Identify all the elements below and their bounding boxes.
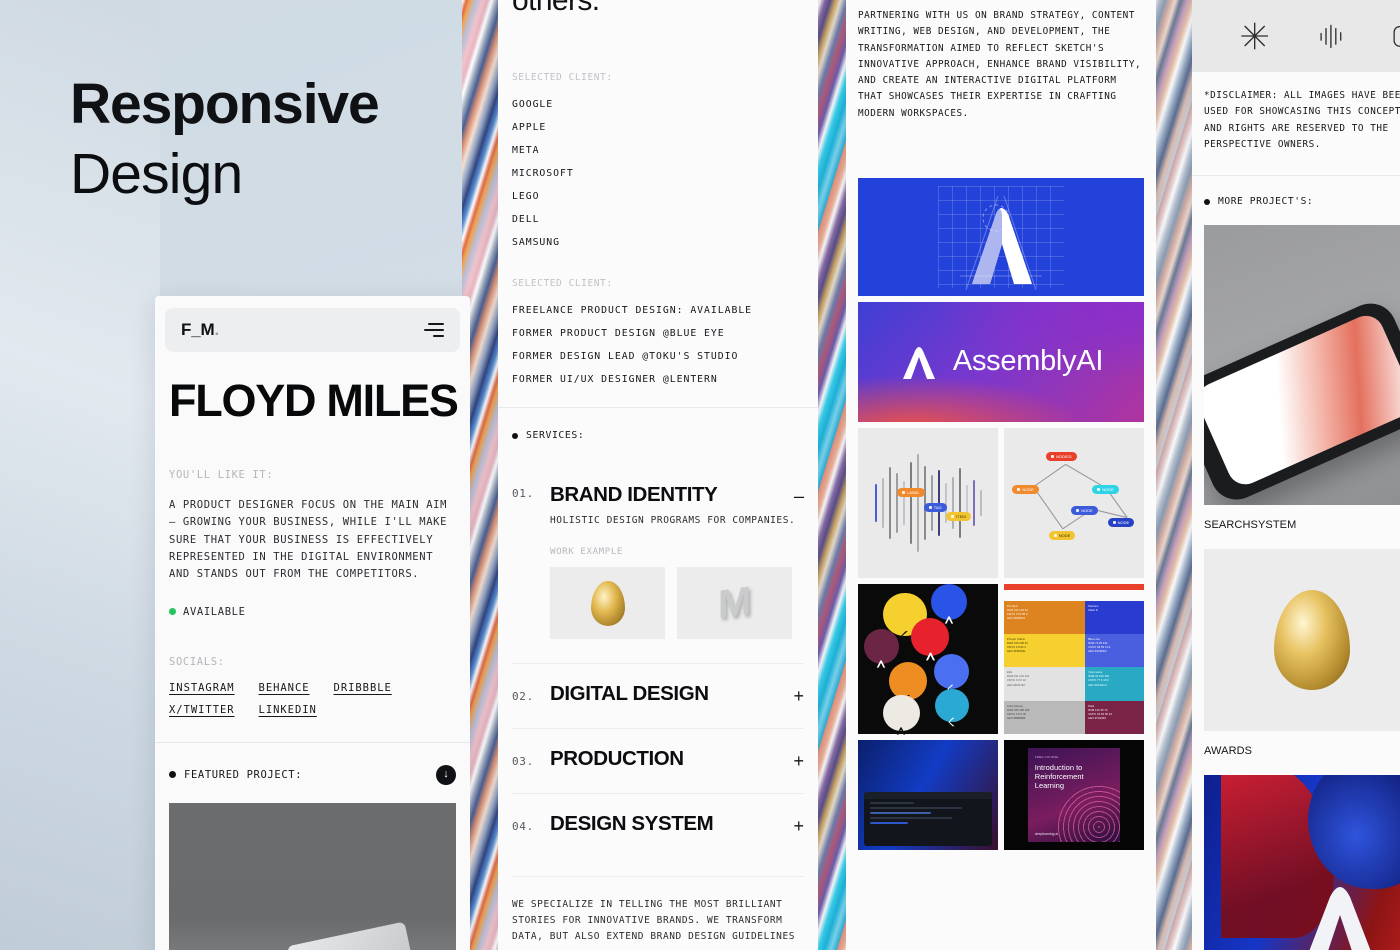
logo[interactable]: F_M. <box>181 320 219 340</box>
accordion-number: 02. <box>512 686 550 703</box>
project-thumbnail-awards[interactable] <box>1204 549 1400 731</box>
accordion-title: PRODUCTION <box>550 747 793 771</box>
accordion-title: DESIGN SYSTEM <box>550 812 793 836</box>
status-led-icon <box>169 608 176 615</box>
hero-line-2: Design <box>70 145 379 205</box>
project-thumbnail-searchsystem[interactable] <box>1204 225 1400 505</box>
golden-egg-icon <box>1274 590 1350 690</box>
collapse-icon[interactable]: – <box>794 483 804 505</box>
color-swatches-card[interactable]: Pro RedRGB 216 134 42CMYK 0 52 85 0HEX #… <box>1004 584 1144 734</box>
course-poster-card[interactable]: FREE COURSE Introduction to Reinforcemen… <box>1004 740 1144 850</box>
list-item: MICROSOFT <box>512 168 804 179</box>
accordion-number: 04. <box>512 816 550 833</box>
more-projects-header: MORE PROJECT'S: <box>1192 176 1400 207</box>
assembly-a-logo-icon <box>938 192 1064 292</box>
assembly-chevron-icon <box>1290 879 1400 950</box>
socials-list: INSTAGRAM BEHANCE DRIBBBLE X/TWITTER LIN… <box>169 682 456 716</box>
accordion-description: HOLISTIC DESIGN PROGRAMS FOR COMPANIES. <box>550 515 804 526</box>
waveform-tag: TAG <box>924 503 947 512</box>
project-caption: SEARCHSYSTEM <box>1204 519 1400 531</box>
disclaimer-text: *DISCLAIMER: ALL IMAGES HAVE BEEN USED F… <box>1192 72 1400 153</box>
capsule-circle-icon[interactable] <box>1391 19 1400 53</box>
icon-bar <box>1192 0 1400 72</box>
desktop-mockup-panel: PARTNERING WITH US ON BRAND STRATEGY, CO… <box>846 0 1156 950</box>
assembly-wordmark-card[interactable]: AssemblyAI <box>858 302 1144 422</box>
list-item: FORMER PRODUCT DESIGN @BLUE EYE <box>512 328 804 339</box>
clients-label: SELECTED CLIENT: <box>512 72 804 83</box>
bullet-icon <box>1204 199 1210 205</box>
availability-status: AVAILABLE <box>169 606 456 618</box>
poster-brand: deeplearning.ai <box>1035 832 1058 836</box>
list-item: LEGO <box>512 191 804 202</box>
bullet-icon <box>512 433 518 439</box>
social-link-instagram[interactable]: INSTAGRAM <box>169 682 235 694</box>
clients-list: GOOGLE APPLE META MICROSOFT LEGO DELL SA… <box>512 99 804 248</box>
expand-icon[interactable]: + <box>793 748 804 770</box>
graph-node: NODE <box>1071 506 1098 515</box>
concentric-rings-icon <box>1054 782 1120 842</box>
accordion-item-digital-design[interactable]: 02. DIGITAL DESIGN + <box>512 663 804 728</box>
more-projects-label: MORE PROJECT'S: <box>1218 196 1313 207</box>
expand-icon[interactable]: + <box>793 813 804 835</box>
accordion-title: BRAND IDENTITY <box>550 483 794 507</box>
accordion-item-design-system[interactable]: 04. DESIGN SYSTEM + <box>512 793 804 858</box>
services-label: SERVICES: <box>526 430 584 441</box>
work-example-gallery: M <box>550 567 804 639</box>
list-item: APPLE <box>512 122 804 133</box>
list-item: FREELANCE PRODUCT DESIGN: AVAILABLE <box>512 305 804 316</box>
social-link-linkedin[interactable]: LINKEDIN <box>259 704 317 716</box>
accordion-item-brand-identity[interactable]: 01. BRAND IDENTITY – HOLISTIC DESIGN PRO… <box>512 465 804 639</box>
experience-label: SELECTED CLIENT: <box>512 278 804 289</box>
portrait-code-card[interactable] <box>858 740 998 850</box>
accordion-number: 01. <box>512 483 550 500</box>
decorative-streak-right <box>1152 0 1196 950</box>
waveform-icon[interactable] <box>1317 21 1345 51</box>
tablet-mockup-panel: others. SELECTED CLIENT: GOOGLE APPLE ME… <box>498 0 818 950</box>
waveform-tag: ITEM <box>946 512 971 521</box>
graph-node: NODE <box>1092 485 1119 494</box>
socials-label: SOCIALS: <box>169 656 456 668</box>
services-header: SERVICES: <box>512 430 804 441</box>
case-study-paragraph: PARTNERING WITH US ON BRAND STRATEGY, CO… <box>846 0 1156 122</box>
node-graph-edges-icon <box>1004 428 1144 568</box>
intro-label: YOU'LL LIKE IT: <box>169 469 456 481</box>
featured-project-header: FEATURED PROJECT: ↓ <box>169 765 456 785</box>
list-item: DELL <box>512 214 804 225</box>
assembly-chevron-icon <box>899 343 939 381</box>
intro-body: A PRODUCT DESIGNER FOCUS ON THE MAIN AIM… <box>169 497 456 584</box>
graph-node: NODE01 <box>1046 452 1077 461</box>
logo-text: F_M <box>181 320 215 339</box>
accordion-title: DIGITAL DESIGN <box>550 682 793 706</box>
hero-title: Responsive Design <box>70 76 379 205</box>
brand-logo-construction-card[interactable] <box>858 178 1144 296</box>
list-item: META <box>512 145 804 156</box>
accordion-item-production[interactable]: 03. PRODUCTION + <box>512 728 804 793</box>
list-item: FORMER UI/UX DESIGNER @LENTERN <box>512 374 804 385</box>
waveform-tag: LABEL <box>897 488 924 497</box>
social-link-dribbble[interactable]: DRIBBBLE <box>334 682 392 694</box>
course-poster: FREE COURSE Introduction to Reinforcemen… <box>1028 748 1120 843</box>
experience-list: FREELANCE PRODUCT DESIGN: AVAILABLE FORM… <box>512 305 804 385</box>
tablet-footer-text: WE SPECIALIZE IN TELLING THE MOST BRILLI… <box>512 876 804 945</box>
hamburger-icon[interactable] <box>424 323 444 337</box>
waveform-card[interactable]: LABEL TAG ITEM <box>858 428 998 578</box>
logo-dot: . <box>215 320 220 339</box>
list-item: SAMSUNG <box>512 237 804 248</box>
assembly-wordmark-text: AssemblyAI <box>953 345 1103 378</box>
availability-label: AVAILABLE <box>183 606 246 618</box>
list-item: GOOGLE <box>512 99 804 110</box>
dark-projects-row: FREE COURSE Introduction to Reinforcemen… <box>858 740 1144 850</box>
brand-assets-row: Pro RedRGB 216 134 42CMYK 0 52 85 0HEX #… <box>858 584 1144 734</box>
featured-project-image[interactable] <box>169 803 456 950</box>
accordion-number: 03. <box>512 751 550 768</box>
social-link-twitter[interactable]: X/TWITTER <box>169 704 235 716</box>
mobile-mockup-panel: F_M. FLOYD MILES YOU'LL LIKE IT: A PRODU… <box>155 296 470 950</box>
hero-line-1: Responsive <box>70 76 379 133</box>
code-editor-window <box>864 792 992 846</box>
designer-name: FLOYD MILES <box>169 378 456 423</box>
graph-node: NODE <box>1108 518 1135 527</box>
project-caption: AWARDS <box>1204 745 1400 757</box>
mobile-topbar: F_M. <box>165 308 460 352</box>
divider <box>155 742 470 743</box>
logo-variants-card[interactable] <box>858 584 998 734</box>
golden-egg-icon <box>591 581 625 626</box>
graph-node: NODE <box>1049 531 1076 540</box>
graph-node: NODE <box>1012 485 1039 494</box>
asterisk-icon[interactable] <box>1238 18 1271 54</box>
featured-project-label: FEATURED PROJECT: <box>184 769 302 781</box>
work-example-label: WORK EXAMPLE <box>550 546 804 557</box>
social-link-behance[interactable]: BEHANCE <box>259 682 310 694</box>
list-item: FORMER DESIGN LEAD @TOKU'S STUDIO <box>512 351 804 362</box>
3d-letter-icon: M <box>718 578 751 628</box>
work-thumbnail-egg[interactable] <box>550 567 665 639</box>
bullet-icon <box>169 771 176 778</box>
poster-kicker: FREE COURSE <box>1035 755 1113 759</box>
projects-panel: *DISCLAIMER: ALL IMAGES HAVE BEEN USED F… <box>1192 0 1400 950</box>
project-thumbnail-portrait[interactable] <box>1204 775 1400 950</box>
expand-icon[interactable]: + <box>793 683 804 705</box>
tablet-heading: others. <box>512 0 804 18</box>
work-thumbnail-glyph[interactable]: M <box>677 567 792 639</box>
visualization-row: LABEL TAG ITEM NODE01 NODE NODE NODE NOD… <box>858 428 1144 578</box>
divider <box>498 407 818 408</box>
node-graph-card[interactable]: NODE01 NODE NODE NODE NODE NODE <box>1004 428 1144 578</box>
download-arrow-icon[interactable]: ↓ <box>436 765 456 785</box>
